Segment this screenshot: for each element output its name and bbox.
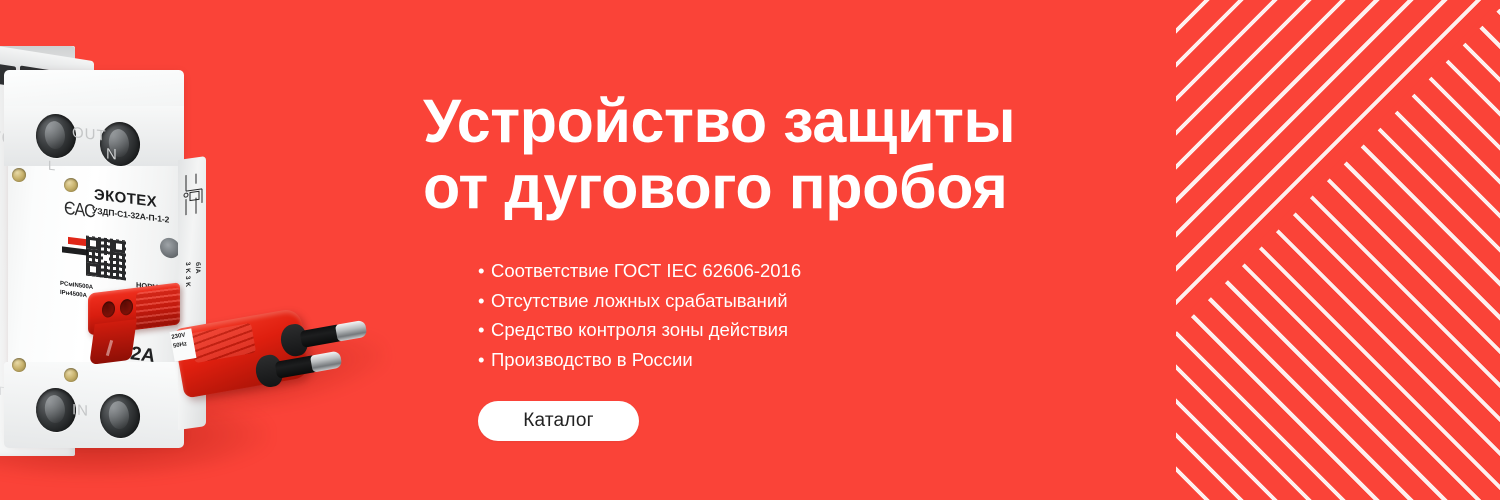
eac-certification-mark: ЄAC xyxy=(64,199,95,223)
list-item-label: Средство контроля зоны действия xyxy=(491,319,788,340)
side-marking-1: 3 K 3 K xyxy=(184,262,191,289)
terminal-label-in: IN xyxy=(72,401,89,420)
banner-copy: Устройство защиты от дугового пробоя • С… xyxy=(423,0,1063,500)
promo-banner: ЭКОТЕХ ЭКОТЕ OUT N L IN ЄAC ЭКОТЕХ УЗДП-… xyxy=(0,0,1500,500)
headline-line-2: от дугового пробоя xyxy=(423,154,1043,220)
page-title: Устройство защиты от дугового пробоя xyxy=(423,88,1043,220)
bullet-icon: • xyxy=(478,256,484,286)
list-item-label: Отсутствие ложных срабатываний xyxy=(491,290,788,311)
terminal-label-l: L xyxy=(48,158,56,174)
handle-stem xyxy=(89,319,137,365)
model-number: УЗДП-С1-32А-П-1-2 xyxy=(92,205,169,224)
bullet-icon: • xyxy=(478,286,484,316)
red-plug: 230V 50Hz xyxy=(178,310,388,420)
catalog-button[interactable]: Каталог xyxy=(478,401,639,441)
bullet-icon: • xyxy=(478,315,484,345)
side-marking-2: б/A xyxy=(194,262,201,275)
list-item-label: Соответствие ГОСТ IEC 62606-2016 xyxy=(491,260,801,281)
plug-voltage-line-2: 50Hz xyxy=(172,339,193,351)
list-item-label: Производство в России xyxy=(491,349,693,370)
terminal-screw xyxy=(12,168,26,182)
terminal-screw xyxy=(12,358,26,372)
terminal-label-n: N xyxy=(106,145,118,163)
headline-line-1: Устройство защиты xyxy=(423,87,1015,155)
feature-list: • Соответствие ГОСТ IEC 62606-2016 • Отс… xyxy=(478,256,801,374)
product-image-circuit-breaker: ЭКОТЕХ ЭКОТЕ OUT N L IN ЄAC ЭКОТЕХ УЗДП-… xyxy=(0,10,390,500)
bullet-icon: • xyxy=(478,345,484,375)
test-button-icon xyxy=(160,237,180,259)
list-item: • Средство контроля зоны действия xyxy=(478,315,801,345)
list-item: • Производство в России xyxy=(478,345,801,375)
qr-code xyxy=(86,236,126,281)
terminal-label-out: OUT xyxy=(72,124,107,145)
list-item: • Соответствие ГОСТ IEC 62606-2016 xyxy=(478,256,801,286)
list-item: • Отсутствие ложных срабатываний xyxy=(478,286,801,316)
wiring-schematic-icon xyxy=(182,168,206,227)
handle-ribs xyxy=(136,287,180,328)
chevron-stripe-pattern xyxy=(1176,0,1500,500)
